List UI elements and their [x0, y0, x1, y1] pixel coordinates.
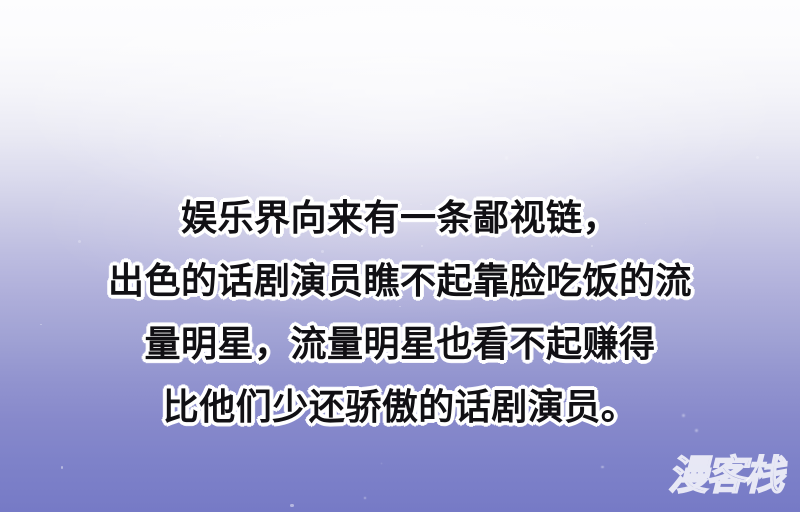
background-gradient: [0, 0, 800, 512]
comic-panel: 娱乐界向来有一条鄙视链， 出色的话剧演员瞧不起靠脸吃饭的流 量明星，流量明星也看…: [0, 0, 800, 512]
